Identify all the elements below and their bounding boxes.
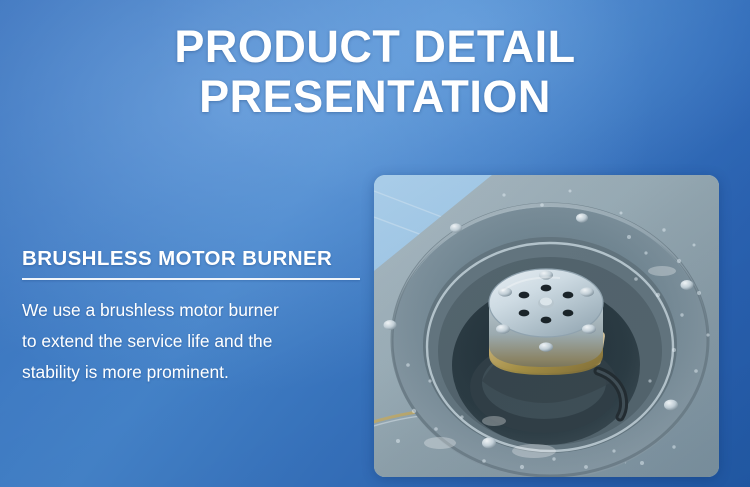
feature-heading: BRUSHLESS MOTOR BURNER xyxy=(22,246,362,272)
banner-title: PRODUCT DETAIL PRESENTATION xyxy=(0,22,750,122)
feature-body-line-2: to extend the service life and the xyxy=(22,326,362,357)
burner-photo-illustration xyxy=(374,175,719,477)
heading-underline xyxy=(22,278,360,280)
product-photo xyxy=(374,175,719,477)
feature-body-line-1: We use a brushless motor burner xyxy=(22,295,362,326)
feature-body: We use a brushless motor burner to exten… xyxy=(22,295,362,388)
title-line-1: PRODUCT DETAIL xyxy=(0,22,750,72)
product-detail-banner: PRODUCT DETAIL PRESENTATION BRUSHLESS MO… xyxy=(0,0,750,487)
feature-body-line-3: stability is more prominent. xyxy=(22,357,362,388)
title-line-2: PRESENTATION xyxy=(0,72,750,122)
feature-copy-block: BRUSHLESS MOTOR BURNER We use a brushles… xyxy=(22,246,362,388)
